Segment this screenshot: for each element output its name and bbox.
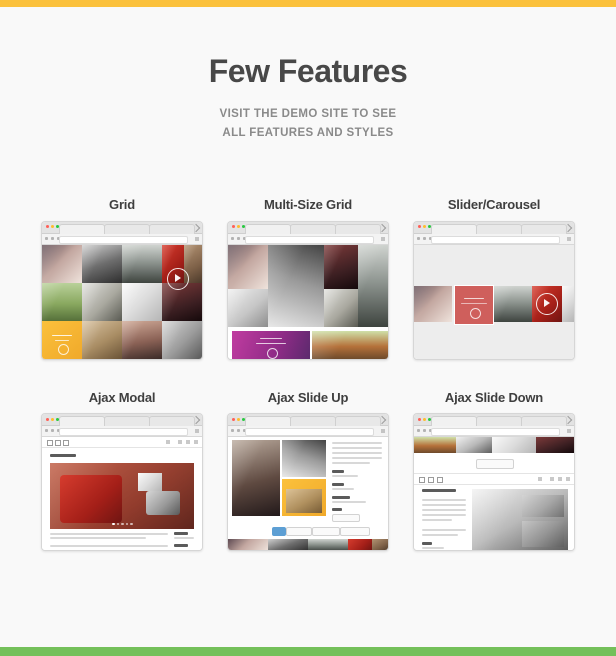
minimize-dot-icon[interactable]: [423, 418, 426, 421]
forward-arrow-icon[interactable]: [237, 429, 240, 432]
gallery-tile[interactable]: [42, 283, 82, 321]
minimize-dot-icon[interactable]: [237, 418, 240, 421]
gallery-tile[interactable]: [372, 539, 388, 551]
play-overlay-icon[interactable]: [167, 268, 189, 290]
browser-tab[interactable]: [521, 416, 567, 426]
feature-card-ajax-modal[interactable]: Ajax Modal: [30, 390, 214, 552]
feature-title-ajax-modal: Ajax Modal: [30, 390, 214, 406]
detail-text: [422, 504, 466, 506]
browser-mockup-grid[interactable]: [41, 221, 203, 360]
gallery-tile[interactable]: [308, 539, 348, 551]
prev-icon[interactable]: [178, 440, 182, 444]
feature-card-grid[interactable]: Grid: [30, 197, 214, 360]
browser-tab[interactable]: [59, 224, 105, 234]
gallery-tile[interactable]: [324, 289, 358, 327]
modal-body-text: [50, 545, 168, 547]
detail-meta-value: [332, 488, 354, 490]
detail-text: [332, 457, 382, 459]
browser-tab[interactable]: [59, 416, 105, 426]
browser-tabbar: [42, 222, 202, 234]
list-view-icon[interactable]: [55, 440, 61, 446]
window-controls[interactable]: [46, 418, 59, 421]
feature-card-slider-carousel[interactable]: Slider/Carousel: [402, 197, 586, 360]
browser-tab[interactable]: [104, 224, 150, 234]
feature-row-2: Ajax Modal: [0, 390, 616, 552]
feature-card-ajax-slide-up[interactable]: Ajax Slide Up: [216, 390, 400, 552]
page-title: Few Features: [0, 55, 616, 87]
detail-meta-value: [332, 475, 358, 477]
modal-toolbar: [42, 437, 202, 448]
filter-button-photography[interactable]: [312, 527, 340, 536]
address-bar-input[interactable]: [59, 428, 188, 436]
slide-down-view: [414, 437, 574, 551]
browser-tab[interactable]: [245, 416, 291, 426]
detail-text: [422, 514, 466, 516]
detail-text: [332, 462, 370, 464]
browser-tabbar: [414, 222, 574, 234]
detail-text: [422, 534, 458, 536]
browser-nav-buttons[interactable]: [417, 237, 432, 240]
back-arrow-icon[interactable]: [231, 237, 234, 240]
address-bar-input[interactable]: [59, 236, 188, 244]
close-icon[interactable]: [566, 477, 570, 481]
feature-title-ajax-slide-down: Ajax Slide Down: [402, 390, 586, 406]
menu-icon[interactable]: [195, 237, 199, 241]
detail-item-title: [422, 489, 456, 492]
share-icon[interactable]: [538, 477, 542, 481]
browser-tab[interactable]: [290, 224, 336, 234]
gallery-tile[interactable]: [414, 437, 456, 453]
back-arrow-icon[interactable]: [417, 237, 420, 240]
gallery-tile[interactable]: [492, 437, 536, 453]
detail-meta-label: [422, 542, 432, 545]
feature-card-multi-size-grid[interactable]: Multi-Size Grid: [216, 197, 400, 360]
back-arrow-icon[interactable]: [45, 237, 48, 240]
gallery-tile[interactable]: [122, 245, 162, 283]
feature-title-multi-size-grid: Multi-Size Grid: [216, 197, 400, 213]
masonry-gallery: [228, 245, 388, 359]
detail-text: [422, 529, 466, 531]
gallery-tile[interactable]: [456, 437, 492, 453]
modal-body-text: [50, 533, 168, 535]
gallery-tile[interactable]: [228, 289, 268, 327]
browser-nav-buttons[interactable]: [45, 429, 60, 432]
browser-tab[interactable]: [431, 224, 477, 234]
columns-view-icon[interactable]: [437, 477, 443, 483]
browser-toolbar: [228, 426, 388, 437]
hero-subtitle: VISIT THE DEMO SITE TO SEE ALL FEATURES …: [0, 105, 616, 143]
gallery-tile[interactable]: [358, 245, 388, 327]
browser-nav-buttons[interactable]: [417, 429, 432, 432]
play-overlay-icon[interactable]: [536, 293, 558, 315]
minimize-dot-icon[interactable]: [423, 225, 426, 228]
back-arrow-icon[interactable]: [231, 429, 234, 432]
forward-arrow-icon[interactable]: [423, 237, 426, 240]
browser-tab[interactable]: [149, 224, 195, 234]
browser-mockup-slider-carousel[interactable]: [413, 221, 575, 360]
browser-toolbar: [228, 234, 388, 245]
next-icon[interactable]: [558, 477, 562, 481]
detail-text: [332, 442, 382, 444]
modal-meta-label: [174, 532, 188, 535]
browser-tab[interactable]: [335, 224, 381, 234]
gallery-tile[interactable]: [82, 283, 122, 321]
detail-image[interactable]: [282, 440, 326, 477]
gallery-tile[interactable]: [42, 321, 82, 359]
feature-title-ajax-slide-up: Ajax Slide Up: [216, 390, 400, 406]
grid-gallery: [42, 245, 202, 359]
forward-arrow-icon[interactable]: [51, 237, 54, 240]
detail-meta-label: [332, 470, 344, 473]
modal-meta-label: [174, 544, 188, 547]
browser-tab[interactable]: [335, 416, 381, 426]
menu-icon[interactable]: [381, 429, 385, 433]
carousel-slide[interactable]: [494, 286, 532, 322]
detail-action-button[interactable]: [332, 514, 360, 522]
back-arrow-icon[interactable]: [45, 429, 48, 432]
browser-toolbar: [414, 426, 574, 437]
browser-mockup-ajax-slide-up[interactable]: [227, 413, 389, 551]
image-pagination-dots[interactable]: [112, 523, 133, 526]
browser-mockup-multi-size-grid[interactable]: [227, 221, 389, 360]
close-dot-icon[interactable]: [418, 418, 421, 421]
gallery-tile[interactable]: [228, 539, 268, 551]
modal-item-title: [50, 454, 76, 457]
carousel-slide[interactable]: [454, 285, 494, 325]
window-controls[interactable]: [46, 225, 59, 228]
gallery-tile[interactable]: [82, 321, 122, 359]
window-controls[interactable]: [418, 225, 431, 228]
browser-toolbar: [42, 234, 202, 245]
window-controls[interactable]: [232, 225, 245, 228]
gallery-tile[interactable]: [122, 321, 162, 359]
address-bar-input[interactable]: [431, 428, 560, 436]
browser-toolbar: [42, 426, 202, 437]
carousel-slide[interactable]: [562, 286, 574, 322]
browser-tab[interactable]: [245, 224, 291, 234]
modal-meta-value: [174, 537, 194, 539]
menu-icon[interactable]: [567, 429, 571, 433]
browser-tab[interactable]: [431, 416, 477, 426]
minimize-dot-icon[interactable]: [237, 225, 240, 228]
menu-icon[interactable]: [381, 237, 385, 241]
load-more-button[interactable]: [476, 459, 514, 469]
browser-tab[interactable]: [521, 224, 567, 234]
modal-body-text: [50, 537, 146, 539]
detail-image[interactable]: [232, 440, 280, 516]
close-dot-icon[interactable]: [46, 225, 49, 228]
browser-tab[interactable]: [149, 416, 195, 426]
address-bar-input[interactable]: [245, 236, 374, 244]
filter-button-all[interactable]: [272, 527, 286, 536]
menu-icon[interactable]: [567, 237, 571, 241]
detail-text: [422, 499, 466, 501]
filter-button-branding[interactable]: [286, 527, 312, 536]
gallery-tile[interactable]: [348, 539, 372, 551]
grid-view-icon[interactable]: [47, 440, 53, 446]
next-icon[interactable]: [186, 440, 190, 444]
share-icon[interactable]: [166, 440, 170, 444]
browser-tabbar: [414, 414, 574, 426]
back-arrow-icon[interactable]: [417, 429, 420, 432]
browser-tab[interactable]: [476, 224, 522, 234]
browser-tabbar: [228, 414, 388, 426]
detail-text: [332, 447, 382, 449]
gallery-tile[interactable]: [312, 331, 388, 359]
detail-image[interactable]: [282, 479, 326, 516]
browser-nav-buttons[interactable]: [231, 237, 246, 240]
gallery-tile[interactable]: [82, 245, 122, 283]
gallery-tile[interactable]: [162, 321, 202, 359]
window-controls[interactable]: [232, 418, 245, 421]
browser-nav-buttons[interactable]: [45, 237, 60, 240]
browser-tab[interactable]: [476, 416, 522, 426]
modal-view: [42, 437, 202, 551]
modal-hero-image[interactable]: [50, 463, 194, 529]
forward-arrow-icon[interactable]: [237, 237, 240, 240]
close-icon[interactable]: [194, 440, 198, 444]
address-bar-input[interactable]: [245, 428, 374, 436]
gallery-tile[interactable]: [232, 331, 310, 359]
bottom-accent-bar: [0, 647, 616, 656]
browser-tab[interactable]: [104, 416, 150, 426]
detail-text: [422, 519, 452, 521]
gallery-tile[interactable]: [324, 245, 358, 289]
hero-subtitle-line-2: ALL FEATURES AND STYLES: [0, 124, 616, 143]
feature-row-1: Grid: [0, 197, 616, 360]
forward-arrow-icon[interactable]: [51, 429, 54, 432]
browser-toolbar: [414, 234, 574, 245]
gallery-tile[interactable]: [122, 283, 162, 321]
browser-tab[interactable]: [290, 416, 336, 426]
minimize-dot-icon[interactable]: [51, 225, 54, 228]
browser-mockup-ajax-slide-down[interactable]: [413, 413, 575, 551]
list-view-icon[interactable]: [428, 477, 434, 483]
close-dot-icon[interactable]: [232, 418, 235, 421]
feature-card-ajax-slide-down[interactable]: Ajax Slide Down: [402, 390, 586, 552]
features-grid: Grid: [0, 197, 616, 551]
close-dot-icon[interactable]: [418, 225, 421, 228]
close-dot-icon[interactable]: [46, 418, 49, 421]
detail-text: [332, 452, 382, 454]
carousel-gallery: [414, 245, 574, 359]
minimize-dot-icon[interactable]: [51, 418, 54, 421]
gallery-tile[interactable]: [536, 437, 574, 453]
hero-section: Few Features VISIT THE DEMO SITE TO SEE …: [0, 7, 616, 143]
feature-title-slider-carousel: Slider/Carousel: [402, 197, 586, 213]
gallery-tile[interactable]: [228, 245, 268, 289]
hero-subtitle-line-1: VISIT THE DEMO SITE TO SEE: [0, 105, 616, 124]
detail-toolbar: [414, 473, 574, 485]
gallery-tile[interactable]: [42, 245, 82, 283]
top-accent-bar: [0, 0, 616, 7]
browser-mockup-ajax-modal[interactable]: [41, 413, 203, 551]
detail-meta-value: [332, 501, 366, 503]
prev-icon[interactable]: [550, 477, 554, 481]
detail-meta-label: [332, 508, 342, 511]
detail-image[interactable]: [472, 489, 568, 551]
gallery-tile[interactable]: [268, 245, 324, 327]
slide-up-view: [228, 437, 388, 551]
filter-button-web-design[interactable]: [340, 527, 370, 536]
menu-icon[interactable]: [195, 429, 199, 433]
address-bar-input[interactable]: [431, 236, 560, 244]
carousel-slide[interactable]: [414, 286, 452, 322]
window-controls[interactable]: [418, 418, 431, 421]
close-dot-icon[interactable]: [232, 225, 235, 228]
gallery-tile[interactable]: [268, 539, 308, 551]
detail-meta-label: [332, 483, 344, 486]
detail-text: [422, 509, 466, 511]
browser-nav-buttons[interactable]: [231, 429, 246, 432]
grid-view-icon[interactable]: [419, 477, 425, 483]
forward-arrow-icon[interactable]: [423, 429, 426, 432]
columns-view-icon[interactable]: [63, 440, 69, 446]
browser-tabbar: [42, 414, 202, 426]
feature-title-grid: Grid: [30, 197, 214, 213]
detail-meta-label: [332, 496, 350, 499]
browser-tabbar: [228, 222, 388, 234]
detail-meta-value: [422, 547, 444, 549]
page-content: Few Features VISIT THE DEMO SITE TO SEE …: [0, 7, 616, 647]
